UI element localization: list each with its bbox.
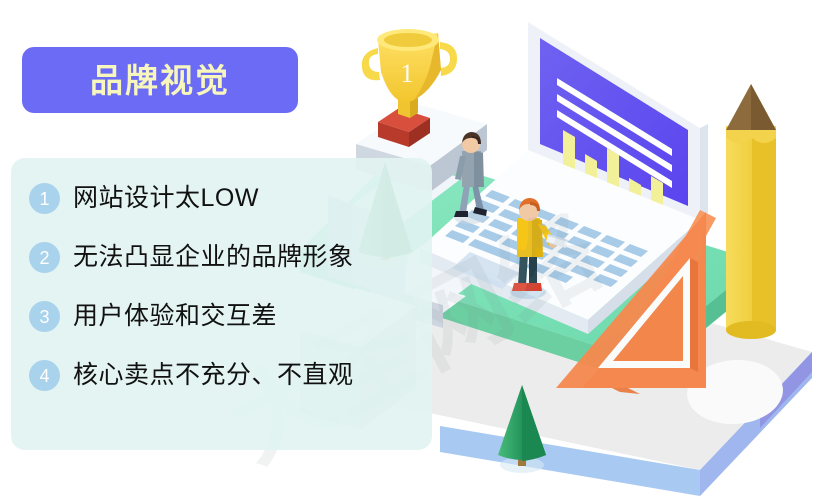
list-item-number-badge: 1 — [29, 183, 60, 214]
list-item-label: 核心卖点不充分、不直观 — [73, 363, 354, 388]
list-item-number-badge: 4 — [29, 360, 60, 391]
list-item-label: 网站设计太LOW — [73, 186, 259, 211]
page-title: 品牌视觉 — [90, 64, 230, 97]
list-item-number-badge: 2 — [29, 242, 60, 273]
list-item: 4 核心卖点不充分、不直观 — [29, 357, 481, 394]
title-badge: 品牌视觉 — [22, 47, 298, 113]
poster-canvas: 1 — [0, 0, 823, 500]
list-item-number-badge: 3 — [29, 301, 60, 332]
list-item-label: 无法凸显企业的品牌形象 — [73, 245, 354, 270]
list-item: 3 用户体验和交互差 — [29, 298, 481, 335]
list-item: 1 网站设计太LOW — [29, 180, 481, 217]
issue-list: 1 网站设计太LOW 2 无法凸显企业的品牌形象 3 用户体验和交互差 4 核心… — [11, 158, 481, 450]
list-item: 2 无法凸显企业的品牌形象 — [29, 239, 481, 276]
trophy-rank-label: 1 — [401, 59, 414, 88]
list-item-label: 用户体验和交互差 — [73, 304, 277, 329]
pencil-icon — [726, 84, 776, 339]
